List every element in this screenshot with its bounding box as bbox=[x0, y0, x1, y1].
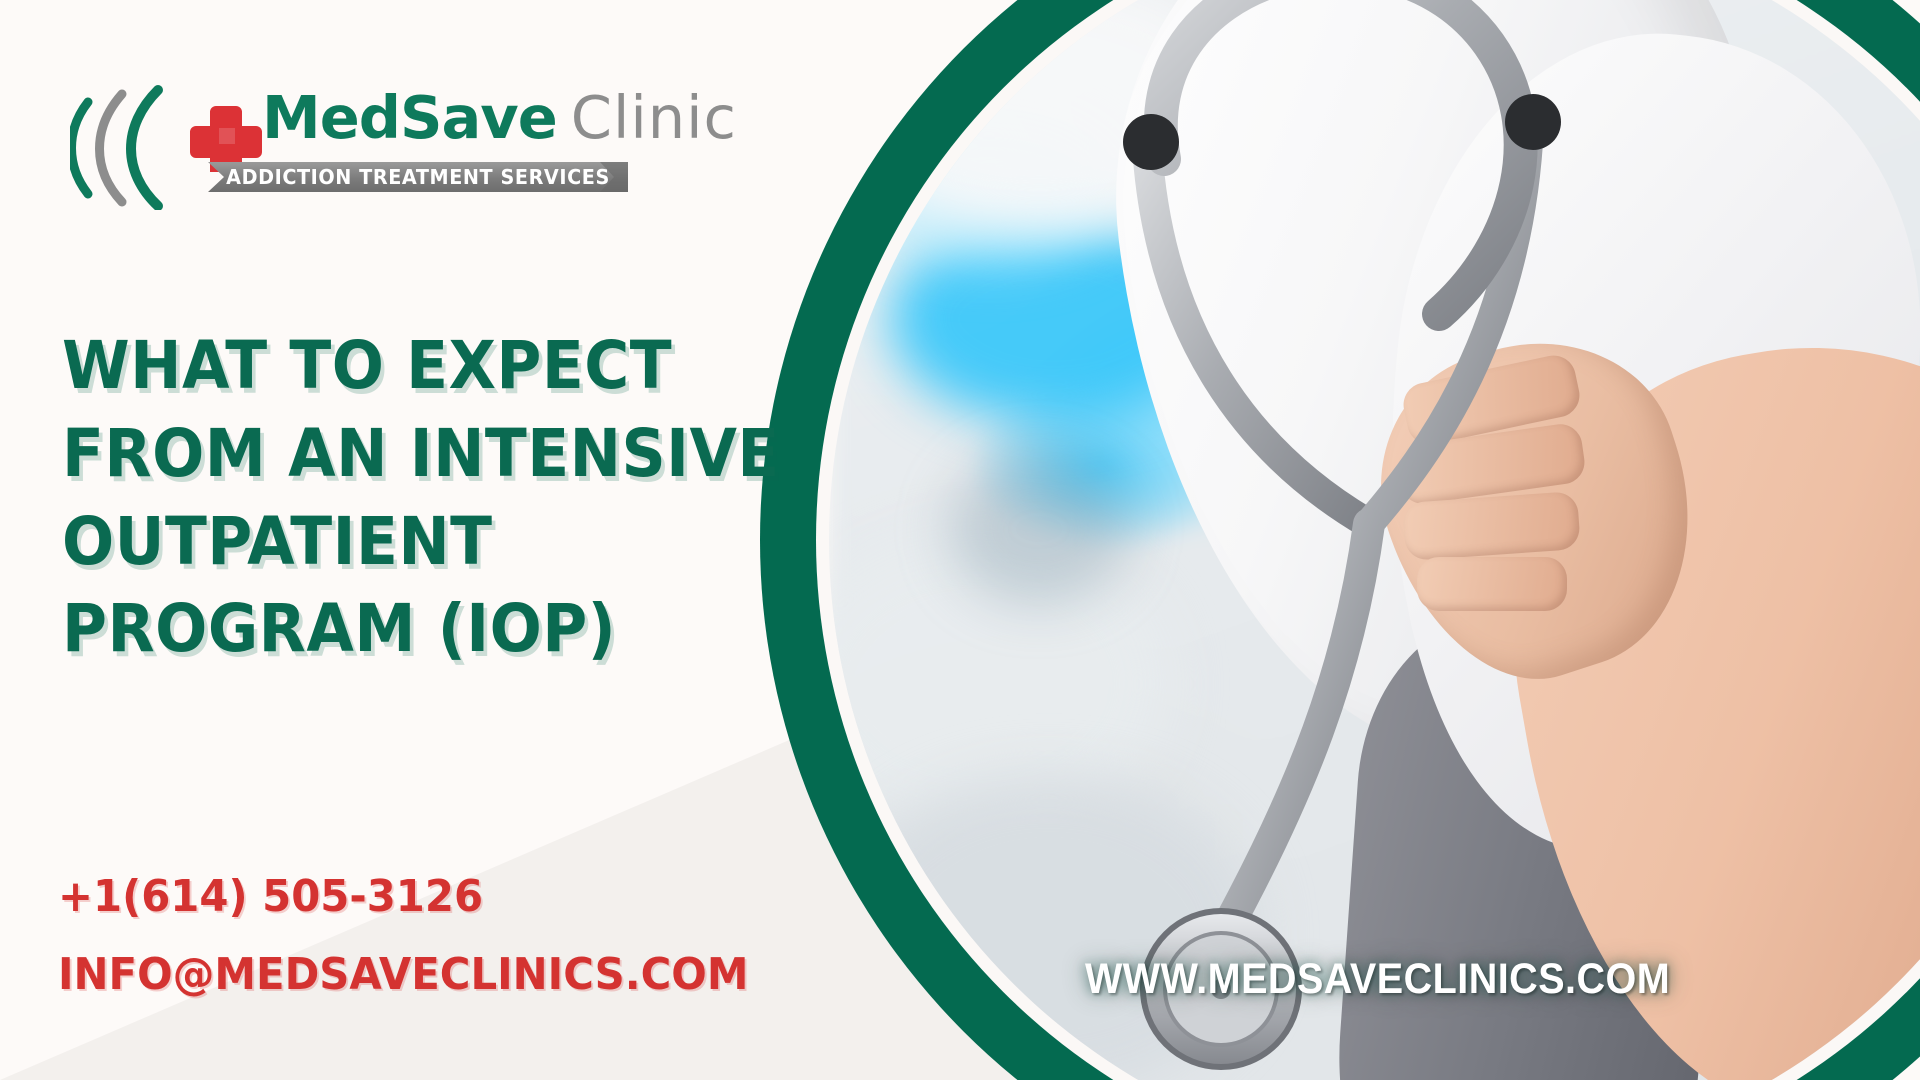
brand-logo[interactable]: MedSaveClinic ADDICTION TREATMENT SERVIC… bbox=[70, 78, 640, 213]
photo-disc-gap bbox=[816, 0, 1920, 1080]
email-address[interactable]: INFO@MEDSAVECLINICS.COM bbox=[58, 953, 748, 997]
phone-number[interactable]: +1(614) 505-3126 bbox=[58, 875, 748, 919]
logo-word-medsave: MedSave bbox=[262, 83, 557, 152]
tagline-ribbon: ADDICTION TREATMENT SERVICES bbox=[208, 160, 628, 194]
logo-word-clinic: Clinic bbox=[571, 83, 737, 152]
signal-arcs-icon bbox=[70, 80, 200, 210]
logo-wordmark: MedSaveClinic bbox=[262, 88, 737, 147]
doctor-stethoscope-photo bbox=[829, 0, 1920, 1080]
headline-line-3: OUTPATIENT bbox=[62, 498, 713, 586]
headline: WHAT TO EXPECT FROM AN INTENSIVE OUTPATI… bbox=[62, 322, 762, 673]
photo-disc-ring bbox=[760, 0, 1920, 1080]
headline-line-4: PROGRAM (IOP) bbox=[62, 585, 713, 673]
tagline-text: ADDICTION TREATMENT SERVICES bbox=[216, 160, 619, 194]
stethoscope-icon bbox=[829, 0, 1920, 1080]
headline-line-1: WHAT TO EXPECT bbox=[62, 322, 713, 410]
headline-line-2: FROM AN INTENSIVE bbox=[62, 410, 713, 498]
banner-stage: WWW.MEDSAVECLINICS.COM MedSaveClinic bbox=[0, 0, 1920, 1080]
website-url[interactable]: WWW.MEDSAVECLINICS.COM bbox=[1085, 955, 1670, 1004]
contact-block: +1(614) 505-3126 INFO@MEDSAVECLINICS.COM bbox=[58, 875, 785, 997]
